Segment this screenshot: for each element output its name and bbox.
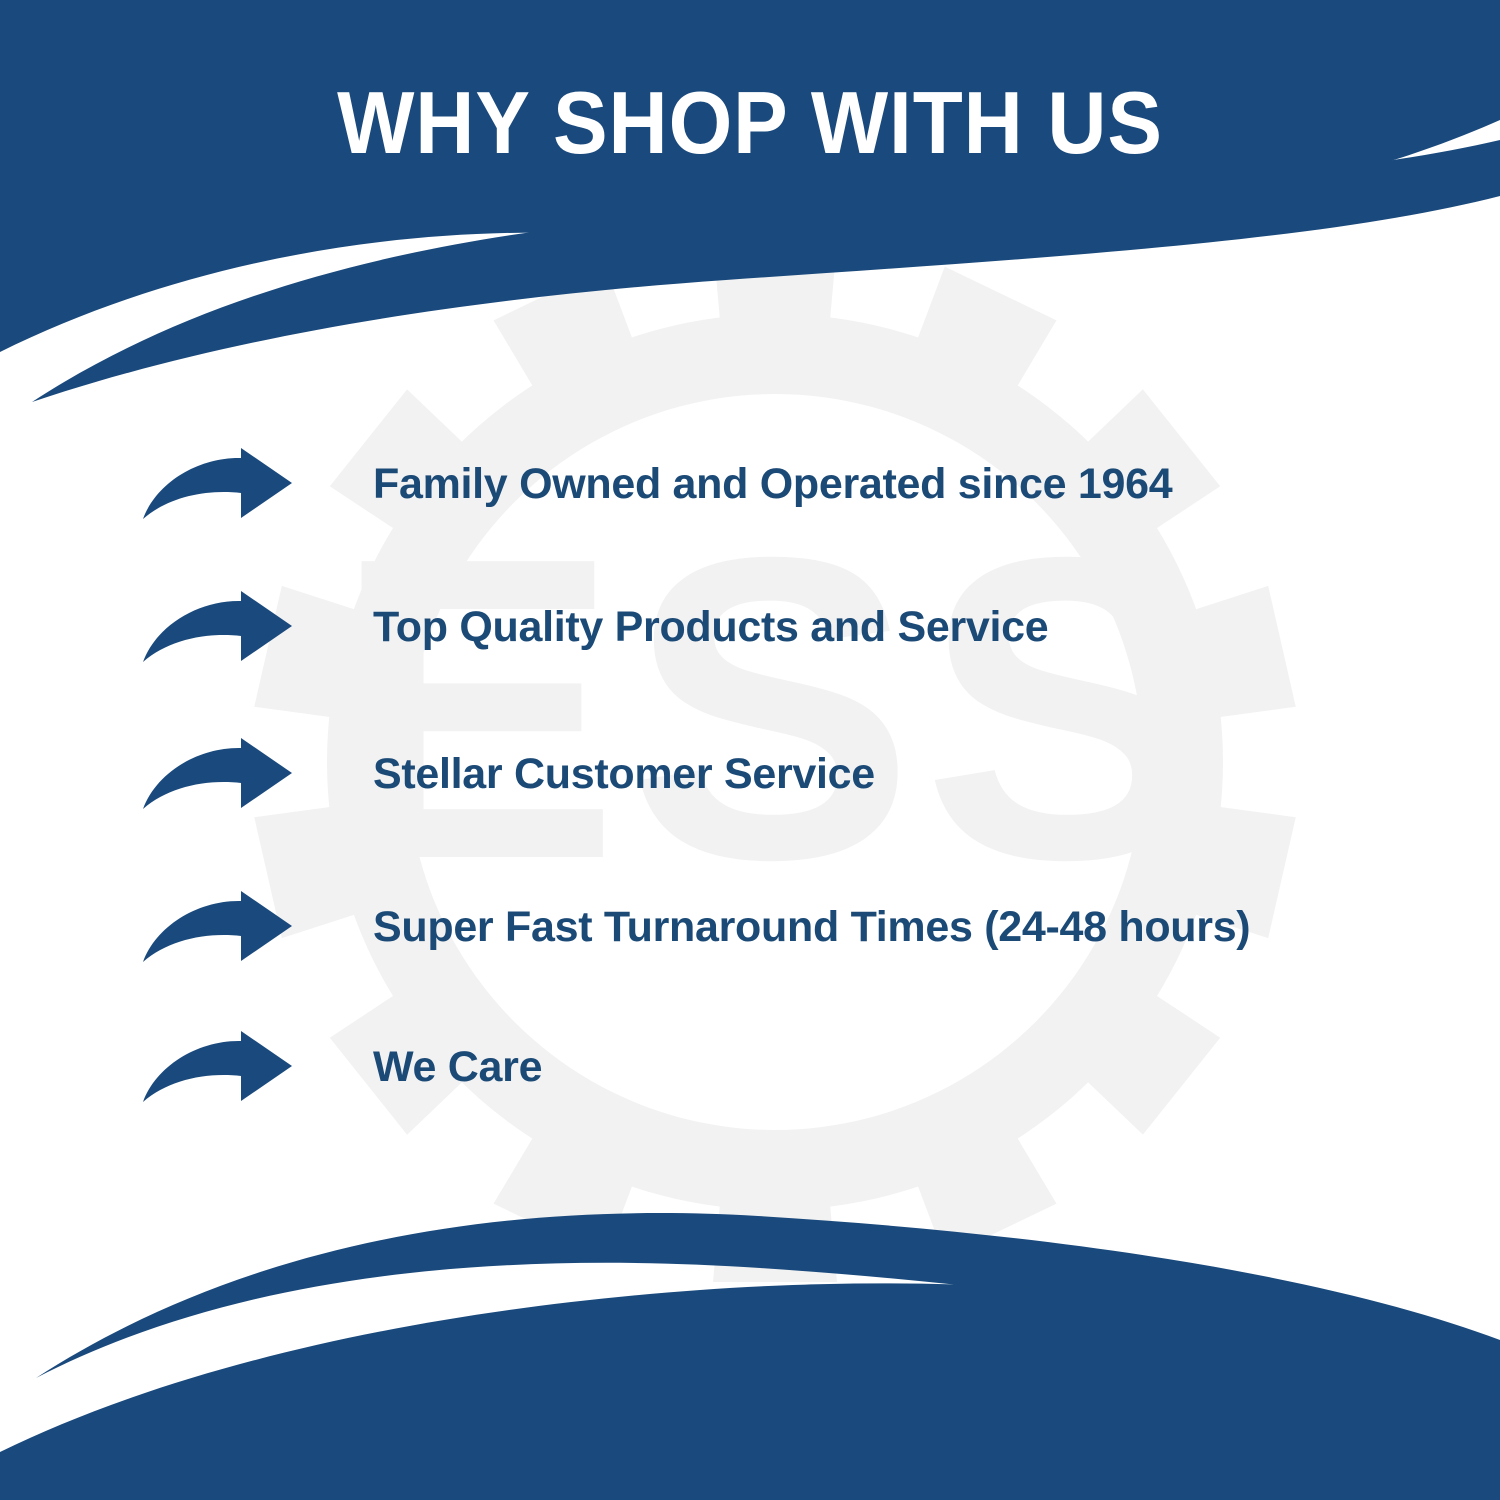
list-item-label: Top Quality Products and Service — [373, 604, 1470, 651]
list-item-label: Stellar Customer Service — [373, 751, 1470, 798]
curved-arrow-right-icon — [140, 1030, 295, 1106]
list-item: Stellar Customer Service — [140, 727, 1470, 823]
list-item-label: Super Fast Turnaround Times (24-48 hours… — [373, 904, 1470, 951]
curved-arrow-right-icon — [140, 737, 295, 813]
curved-arrow-right-icon — [140, 590, 295, 666]
curved-arrow-right-icon — [140, 890, 295, 966]
curved-arrow-right-icon — [140, 447, 295, 523]
list-item: Top Quality Products and Service — [140, 580, 1470, 676]
benefits-list: Family Owned and Operated since 1964 Top… — [0, 0, 1500, 1500]
list-item: Super Fast Turnaround Times (24-48 hours… — [140, 880, 1470, 976]
list-item-label: Family Owned and Operated since 1964 — [373, 461, 1470, 508]
list-item-label: We Care — [373, 1044, 1470, 1091]
list-item: Family Owned and Operated since 1964 — [140, 437, 1470, 533]
list-item: We Care — [140, 1020, 1470, 1116]
promo-graphic: ESS WHY SHOP WITH US Family Owned and Op… — [0, 0, 1500, 1500]
